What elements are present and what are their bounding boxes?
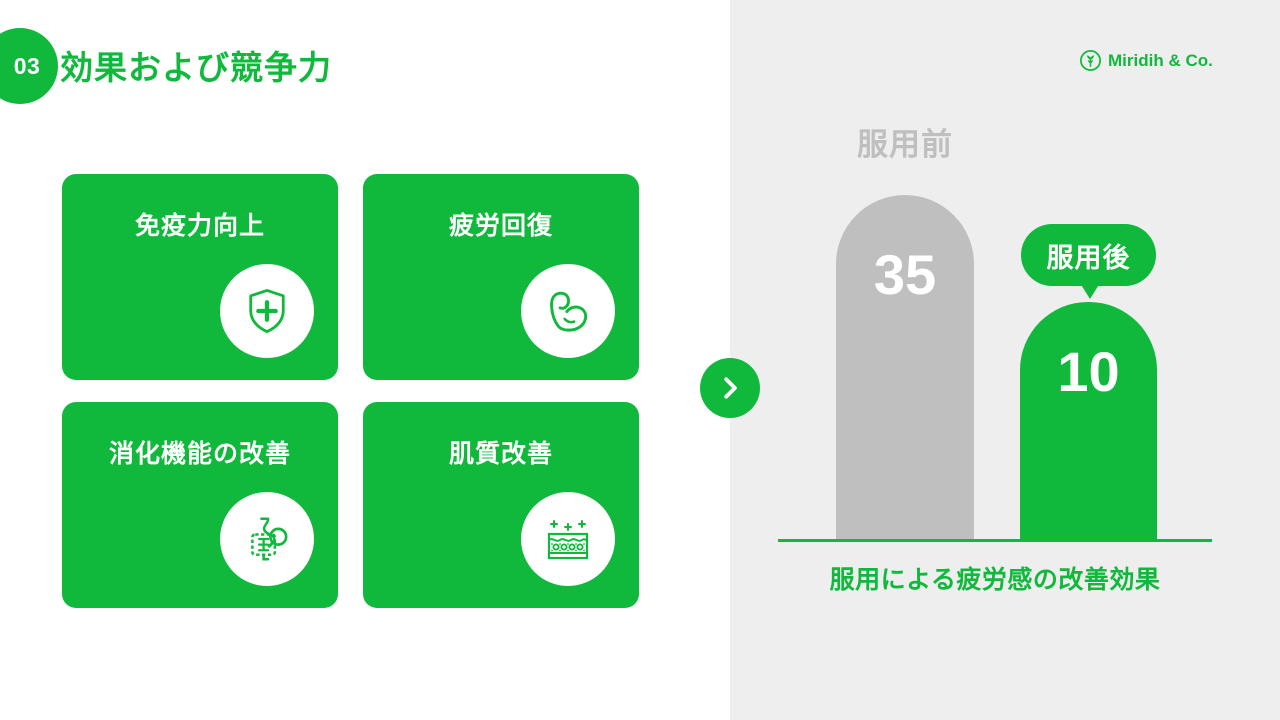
section-number-badge: 03 xyxy=(0,28,58,104)
benefit-card-immunity[interactable]: 免疫力向上 xyxy=(62,174,338,380)
slide: 03 効果および競争力 Miridih & Co. 免疫力向上 疲労回復 xyxy=(0,0,1280,720)
chart-caption: 服用による疲労感の改善効果 xyxy=(778,560,1212,596)
benefit-card-title: 免疫力向上 xyxy=(62,206,338,242)
chart-bar-after: 10 xyxy=(1020,302,1157,539)
stomach-intestine-magnifier-icon xyxy=(220,492,314,586)
benefit-card-fatigue-recovery[interactable]: 疲労回復 xyxy=(363,174,639,380)
fatigue-improvement-chart: 服用前 35 服用後 10 服用による疲労感の改善効果 xyxy=(778,0,1218,720)
chart-baseline xyxy=(778,539,1212,542)
benefit-card-skin[interactable]: 肌質改善 xyxy=(363,402,639,608)
section-number-label: 03 xyxy=(0,53,40,80)
bubble-tail-icon xyxy=(1080,283,1100,299)
page-title: 効果および競争力 xyxy=(60,41,332,89)
chevron-right-icon xyxy=(717,375,743,401)
shield-plus-icon xyxy=(220,264,314,358)
skin-layers-sparkle-icon xyxy=(521,492,615,586)
chart-bar-value-before: 35 xyxy=(874,195,936,303)
chart-bar-label-after-bubble: 服用後 xyxy=(1021,224,1156,286)
flexed-biceps-icon xyxy=(521,264,615,358)
benefit-card-grid: 免疫力向上 疲労回復 消化機能の改善 xyxy=(62,174,639,608)
benefit-card-digestion[interactable]: 消化機能の改善 xyxy=(62,402,338,608)
chart-bar-before: 35 xyxy=(836,195,974,539)
benefit-card-title: 消化機能の改善 xyxy=(62,434,338,470)
benefit-card-title: 肌質改善 xyxy=(363,434,639,470)
chart-bar-value-after: 10 xyxy=(1057,302,1119,400)
chart-bar-label-after: 服用後 xyxy=(1047,236,1131,275)
chart-bar-label-before: 服用前 xyxy=(836,119,974,164)
benefit-card-title: 疲労回復 xyxy=(363,206,639,242)
next-section-arrow-button[interactable] xyxy=(700,358,760,418)
